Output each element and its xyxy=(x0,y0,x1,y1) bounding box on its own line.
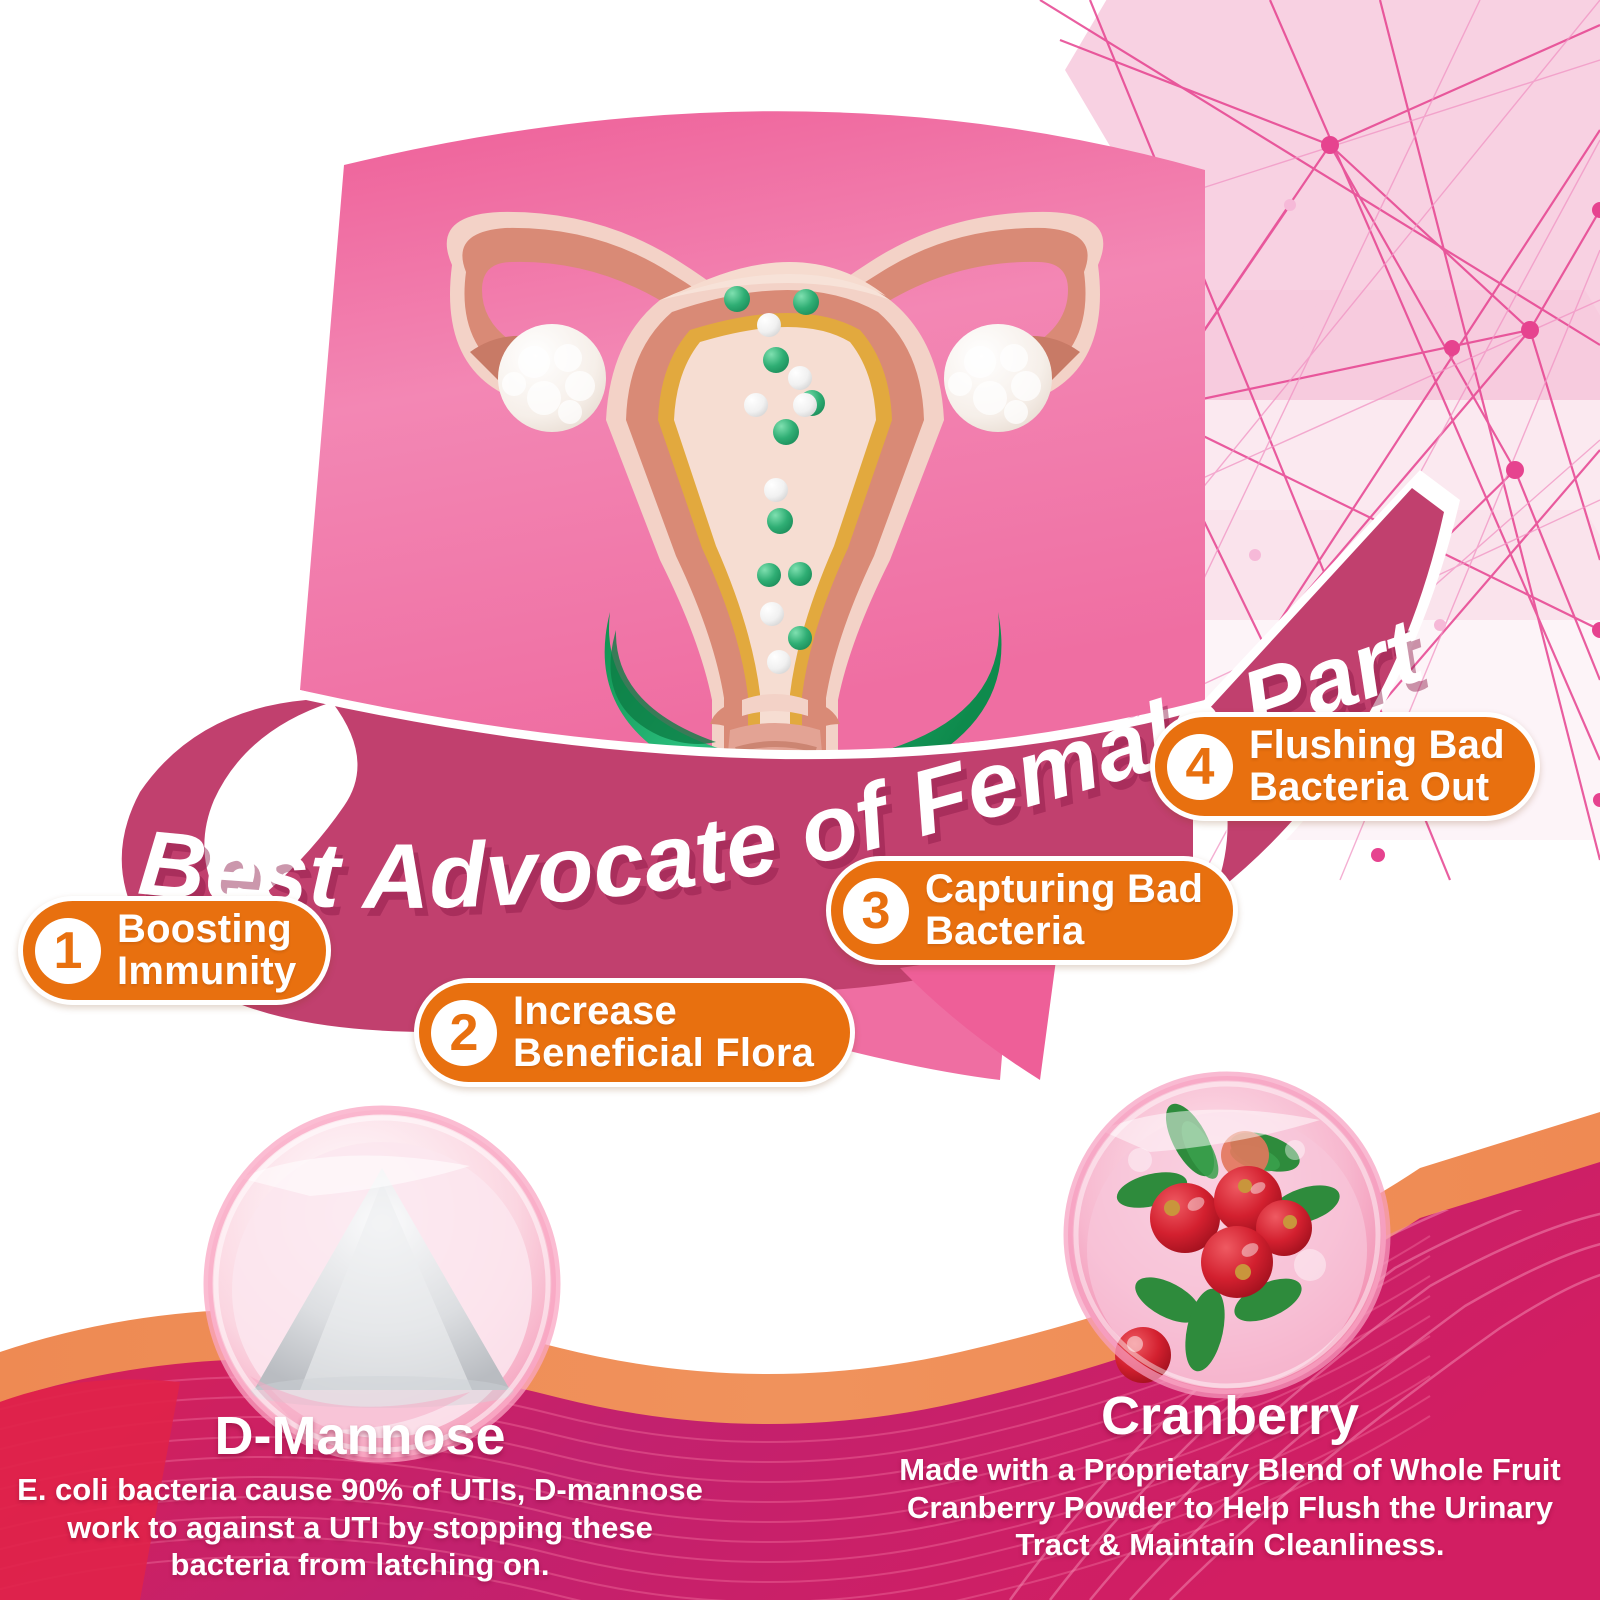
benefit-badge-4[interactable]: 4 Flushing Bad Bacteria Out xyxy=(1150,712,1540,821)
benefit-badge-1[interactable]: 1 Boosting Immunity xyxy=(18,896,331,1005)
benefit-number-4: 4 xyxy=(1167,734,1233,800)
benefit-label-4: Flushing Bad Bacteria Out xyxy=(1249,725,1505,808)
ingredient-title-dmannose: D-Mannose xyxy=(10,1408,710,1465)
benefit-label-2: Increase Beneficial Flora xyxy=(513,991,814,1074)
benefit-number-1: 1 xyxy=(35,918,101,984)
ingredient-description-cranberry: Made with a Proprietary Blend of Whole F… xyxy=(870,1451,1590,1564)
benefit-number-2: 2 xyxy=(431,1000,497,1066)
benefit-badge-3[interactable]: 3 Capturing Bad Bacteria xyxy=(826,856,1238,965)
ingredient-title-cranberry: Cranberry xyxy=(870,1388,1590,1445)
benefit-label-1: Boosting Immunity xyxy=(117,909,296,992)
ingredient-block-cranberry: Cranberry Made with a Proprietary Blend … xyxy=(870,1388,1590,1564)
ingredient-block-dmannose: D-Mannose E. coli bacteria cause 90% of … xyxy=(10,1408,710,1584)
infographic-canvas: Best Advocate of Female Parts! Best Advo… xyxy=(0,0,1600,1600)
ingredient-description-dmannose: E. coli bacteria cause 90% of UTIs, D-ma… xyxy=(10,1471,710,1584)
benefit-label-3: Capturing Bad Bacteria xyxy=(925,869,1203,952)
cranberry-image xyxy=(1068,1076,1386,1394)
benefit-number-3: 3 xyxy=(843,878,909,944)
benefit-badge-2[interactable]: 2 Increase Beneficial Flora xyxy=(414,978,855,1087)
